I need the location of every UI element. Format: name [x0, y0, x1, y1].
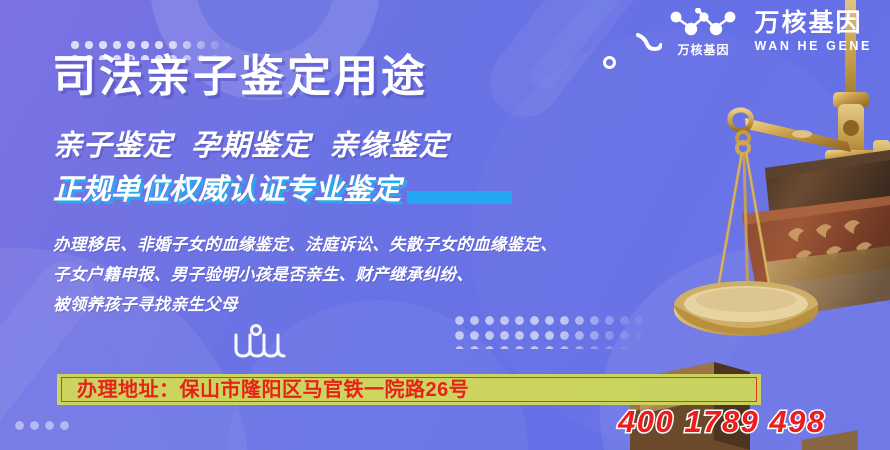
- logo-name-en: WAN HE GENE: [755, 39, 873, 54]
- tagline-underline-bar: [407, 191, 512, 204]
- use-case-line-3: 被领养孩子寻找亲生父母: [53, 290, 557, 320]
- tagline: 正规单位权威认证专业鉴定: [53, 176, 401, 205]
- service-item-2: 孕期鉴定: [191, 130, 311, 162]
- address-banner: 办理地址：保山市隆阳区马官铁一院路26号: [57, 374, 761, 405]
- molecule-dna-icon: [665, 8, 743, 42]
- brand-logo[interactable]: 万核基因 万核基因 WAN HE GENE: [665, 8, 873, 56]
- logo-mark-caption: 万核基因: [665, 44, 743, 56]
- service-item-3: 亲缘鉴定: [329, 130, 449, 162]
- phone-number[interactable]: 400 1789 498: [618, 406, 826, 437]
- address-text: 办理地址：保山市隆阳区马官铁一院路26号: [77, 380, 469, 400]
- logo-mark: 万核基因: [665, 8, 743, 56]
- use-case-line-1: 办理移民、非婚子女的血缘鉴定、法庭诉讼、失散子女的血缘鉴定、: [53, 230, 557, 260]
- logo-name-cn: 万核基因: [755, 10, 873, 36]
- logo-wordmark: 万核基因 WAN HE GENE: [755, 10, 873, 53]
- use-case-list: 办理移民、非婚子女的血缘鉴定、法庭诉讼、失散子女的血缘鉴定、 子女户籍申报、男子…: [53, 230, 557, 320]
- use-case-line-2: 子女户籍申报、男子验明小孩是否亲生、财产继承纠纷、: [53, 260, 557, 290]
- promo-banner: 万核基因 万核基因 WAN HE GENE 司法亲子鉴定用途 亲子鉴定孕期鉴定亲…: [0, 0, 890, 450]
- page-title: 司法亲子鉴定用途: [52, 55, 428, 99]
- service-list: 亲子鉴定孕期鉴定亲缘鉴定: [53, 132, 449, 161]
- tagline-row: 正规单位权威认证专业鉴定: [53, 176, 512, 205]
- service-item-1: 亲子鉴定: [53, 130, 173, 162]
